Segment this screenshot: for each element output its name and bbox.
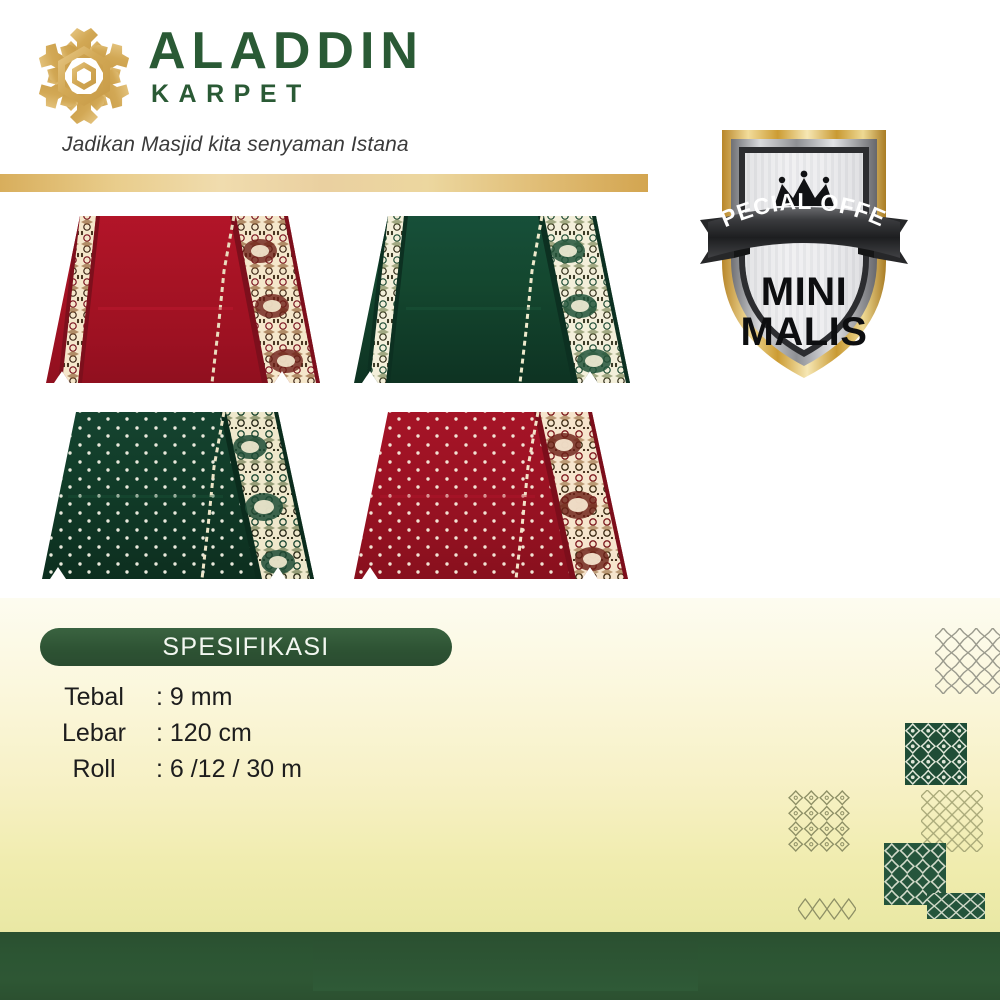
spec-key-roll: Roll <box>40 755 148 784</box>
specification-table: Tebal : 9 mm Lebar : 120 cm Roll : 6 /12… <box>40 683 302 791</box>
lattice-strip-green-icon <box>927 893 985 919</box>
header-section: ALADDIN KARPET Jadikan Masjid kita senya… <box>0 0 1000 598</box>
spec-value-lebar: : 120 cm <box>156 719 252 748</box>
specification-section: SPESIFIKASI Tebal : 9 mm Lebar : 120 cm … <box>0 598 1000 932</box>
product-image-carpet-green-plain[interactable] <box>348 211 638 393</box>
product-image-carpet-red-plain[interactable] <box>38 211 328 393</box>
spec-value-tebal: : 9 mm <box>156 683 232 712</box>
badge-title-line2: MALIS <box>741 310 868 354</box>
spec-value-roll: : 6 /12 / 30 m <box>156 755 302 784</box>
brand-wordmark: ALADDIN KARPET <box>148 24 424 109</box>
special-offer-badge[interactable]: SPECIAL OFFER MINI MALIS <box>698 112 910 390</box>
product-image-grid <box>0 205 660 590</box>
brand-tagline: Jadikan Masjid kita senyaman Istana <box>62 133 409 157</box>
gold-divider-bar <box>0 174 648 192</box>
spec-row-roll: Roll : 6 /12 / 30 m <box>40 755 302 791</box>
quatrefoil-lattice-outline-icon <box>788 790 850 852</box>
quatrefoil-lattice-icon <box>935 628 1000 694</box>
spec-row-tebal: Tebal : 9 mm <box>40 683 302 719</box>
poster-canvas: ALADDIN KARPET Jadikan Masjid kita senya… <box>0 0 1000 1000</box>
spec-key-lebar: Lebar <box>40 719 148 748</box>
footer-bar <box>0 932 1000 1000</box>
lattice-strip-icon <box>798 898 856 920</box>
brand-name: ALADDIN <box>148 24 424 78</box>
spec-key-tebal: Tebal <box>40 683 148 712</box>
spesifikasi-heading: SPESIFIKASI <box>162 633 329 662</box>
badge-title-line1: MINI <box>761 270 847 314</box>
floral-lattice-icon <box>905 723 967 785</box>
aladdin-snowflake-mandala-icon <box>24 18 144 136</box>
product-image-carpet-green-dot[interactable] <box>38 407 328 589</box>
brand-subname: KARPET <box>151 80 424 109</box>
spesifikasi-banner: SPESIFIKASI <box>40 628 452 666</box>
footer-bar-inner-panel <box>313 939 698 991</box>
product-image-carpet-red-dot[interactable] <box>348 407 638 589</box>
spec-row-lebar: Lebar : 120 cm <box>40 719 302 755</box>
